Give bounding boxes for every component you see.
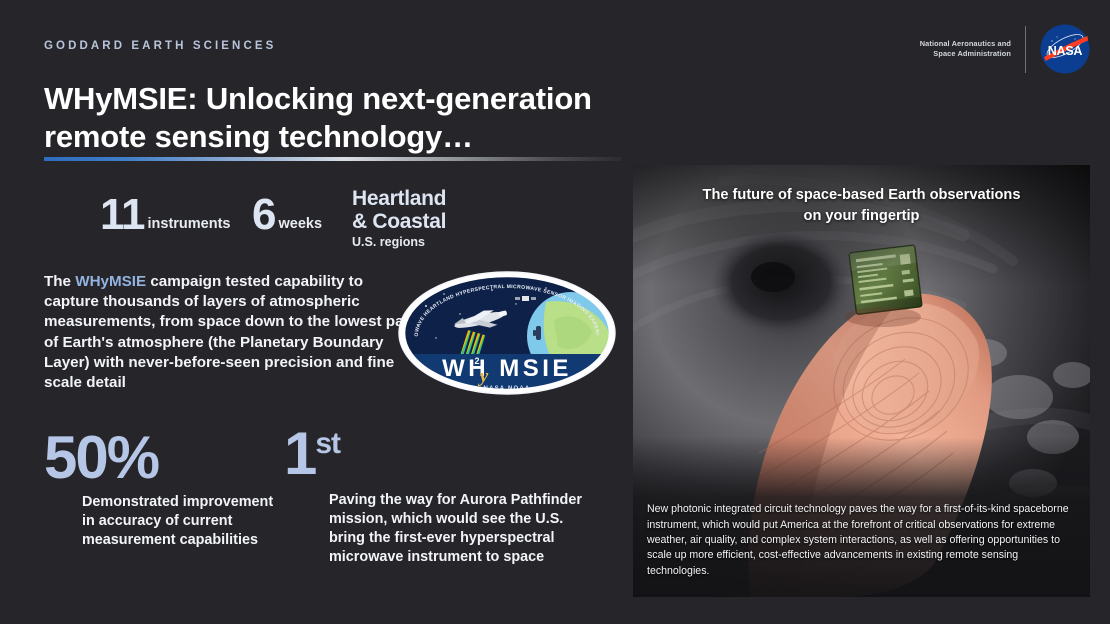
agency-line-1: National Aeronautics and [920,39,1011,49]
stat-first-value: 1st [284,428,604,481]
stat-improvement-description: Demonstrated improvement in accuracy of … [82,493,282,550]
image-caption-top: The future of space-based Earth observat… [633,185,1090,226]
patch-wordmark-y: y [478,366,489,387]
patch-wordmark-superscript: 2 [474,356,479,366]
nasa-branding: National Aeronautics and Space Administr… [920,24,1090,74]
title-divider [44,157,622,161]
stat-regions: Heartland & Coastal U.S. regions [352,188,446,249]
svg-text:NASA: NASA [1048,44,1083,58]
eyebrow-label: GODDARD EARTH SCIENCES [44,40,276,52]
nasa-meatball-icon: NASA [1040,24,1090,74]
vertical-divider-icon [1025,26,1026,73]
stat-improvement: 50% Demonstrated improvement in accuracy… [44,432,284,550]
body-paragraph: The WHyMSIE campaign tested capability t… [44,272,416,393]
stat-weeks: 6 weeks [252,194,322,236]
stat-improvement-value: 50% [44,432,284,485]
agency-name: National Aeronautics and Space Administr… [920,39,1011,59]
body-prefix: The [44,273,75,290]
stat-first-ordinal: st [315,427,340,460]
stat-weeks-value: 6 [252,194,275,236]
stat-instruments-value: 11 [100,194,145,236]
stat-first: 1st Paving the way for Aurora Pathfinder… [284,428,604,567]
image-caption-top-line-2: on your fingertip [647,206,1076,227]
image-caption-top-line-1: The future of space-based Earth observat… [647,185,1076,206]
image-caption-bottom: New photonic integrated circuit technolo… [633,502,1090,579]
stat-regions-line-2: & Coastal [352,211,446,234]
whymsie-mission-patch: WH MSIE 2 y NASA NOAA MICROWAVE HEARTLAN… [396,268,618,398]
fingertip-chip-photo: The future of space-based Earth observat… [633,165,1090,597]
patch-wordmark: WH MSIE [442,355,572,382]
stat-first-number: 1 [284,420,315,487]
top-stat-row: 11 instruments 6 weeks Heartland & Coast… [44,188,604,250]
body-suffix: campaign tested capability to capture th… [44,273,415,391]
stat-instruments: 11 instruments [100,194,231,236]
slide-root: GODDARD EARTH SCIENCES National Aeronaut… [0,0,1110,624]
body-highlight: WHyMSIE [75,273,146,290]
stat-first-description: Paving the way for Aurora Pathfinder mis… [329,491,601,567]
page-title: WHyMSIE: Unlocking next-generation remot… [44,80,644,157]
stat-regions-sublabel: U.S. regions [352,235,446,249]
stat-weeks-unit: weeks [278,216,322,236]
stat-instruments-unit: instruments [148,216,231,236]
agency-line-2: Space Administration [920,49,1011,59]
stat-regions-line-1: Heartland [352,188,446,211]
